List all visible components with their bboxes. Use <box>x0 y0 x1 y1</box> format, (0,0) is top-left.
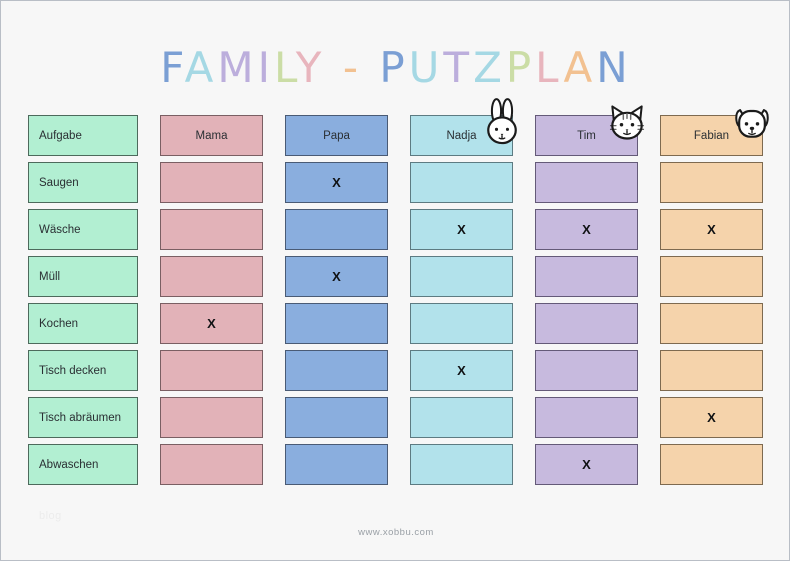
task-label: Tisch decken <box>39 365 106 377</box>
chore-cell-tim[interactable]: X <box>535 209 638 250</box>
title-letter: Y <box>296 43 326 92</box>
chore-cell-papa[interactable] <box>285 444 388 485</box>
chore-cell-papa[interactable] <box>285 303 388 344</box>
task-label-cell[interactable]: Müll <box>28 256 138 297</box>
title-letter: P <box>506 43 535 92</box>
column-header-label: Papa <box>323 130 350 142</box>
task-label-cell[interactable]: Tisch abräumen <box>28 397 138 438</box>
chore-cell-papa[interactable]: X <box>285 256 388 297</box>
chore-chart-table: AufgabeMamaPapaNadjaTimFabianSaugenXWäsc… <box>28 115 764 491</box>
task-label: Müll <box>39 271 60 283</box>
check-mark: X <box>582 222 591 237</box>
chore-cell-nadja[interactable]: X <box>410 350 513 391</box>
task-label-cell[interactable]: Saugen <box>28 162 138 203</box>
cat-sticker <box>605 98 649 146</box>
title-letter: L <box>274 43 296 92</box>
chore-cell-fabian[interactable] <box>660 256 763 297</box>
chore-cell-papa[interactable]: X <box>285 162 388 203</box>
check-mark: X <box>457 222 466 237</box>
column-header-fabian[interactable]: Fabian <box>660 115 763 156</box>
putzplan-page: FAMILY - PUTZPLAN AufgabeMamaPapaNadjaTi… <box>0 0 790 561</box>
task-label: Saugen <box>39 177 79 189</box>
chore-cell-nadja[interactable]: X <box>410 209 513 250</box>
chore-cell-fabian[interactable] <box>660 303 763 344</box>
table-row: MüllX <box>28 256 764 303</box>
chore-cell-nadja[interactable] <box>410 256 513 297</box>
title-letter <box>325 43 342 92</box>
chore-cell-fabian[interactable] <box>660 162 763 203</box>
table-row: Tisch deckenX <box>28 350 764 397</box>
column-header-label: Aufgabe <box>39 130 82 142</box>
chore-cell-fabian[interactable]: X <box>660 397 763 438</box>
chore-cell-tim[interactable]: X <box>535 444 638 485</box>
chore-cell-papa[interactable] <box>285 350 388 391</box>
check-mark: X <box>457 363 466 378</box>
title-letter: N <box>596 43 631 92</box>
check-mark: X <box>332 269 341 284</box>
task-label-cell[interactable]: Wäsche <box>28 209 138 250</box>
title-letter: - <box>343 43 362 92</box>
title-letter: A <box>185 43 218 92</box>
chore-cell-fabian[interactable] <box>660 350 763 391</box>
check-mark: X <box>582 457 591 472</box>
task-label-cell[interactable]: Kochen <box>28 303 138 344</box>
title-letter: M <box>217 43 257 92</box>
chore-cell-papa[interactable] <box>285 397 388 438</box>
column-header-label: Mama <box>196 130 228 142</box>
chore-cell-mama[interactable] <box>160 397 263 438</box>
column-header-nadja[interactable]: Nadja <box>410 115 513 156</box>
column-header-label: Tim <box>577 130 596 142</box>
task-label: Kochen <box>39 318 78 330</box>
title-letter: A <box>564 43 597 92</box>
column-header-label: Fabian <box>694 130 729 142</box>
column-header-task[interactable]: Aufgabe <box>28 115 138 156</box>
title-letter: Z <box>473 43 506 92</box>
dog-sticker <box>730 98 774 146</box>
title-letter: P <box>379 43 408 92</box>
column-header-tim[interactable]: Tim <box>535 115 638 156</box>
chore-cell-fabian[interactable]: X <box>660 209 763 250</box>
chore-cell-mama[interactable] <box>160 162 263 203</box>
page-title: FAMILY - PUTZPLAN <box>1 43 790 93</box>
chore-cell-tim[interactable] <box>535 397 638 438</box>
chore-cell-mama[interactable] <box>160 444 263 485</box>
chore-cell-nadja[interactable] <box>410 162 513 203</box>
check-mark: X <box>207 316 216 331</box>
title-letter: I <box>258 43 274 92</box>
task-label: Tisch abräumen <box>39 412 121 424</box>
task-label-cell[interactable]: Tisch decken <box>28 350 138 391</box>
chore-cell-tim[interactable] <box>535 303 638 344</box>
chore-cell-tim[interactable] <box>535 350 638 391</box>
title-letter: F <box>160 43 184 92</box>
footer-url: www.xobbu.com <box>1 527 790 538</box>
table-header-row: AufgabeMamaPapaNadjaTimFabian <box>28 115 764 162</box>
table-row: AbwaschenX <box>28 444 764 491</box>
chore-cell-tim[interactable] <box>535 162 638 203</box>
title-letter: T <box>443 43 473 92</box>
chore-cell-mama[interactable]: X <box>160 303 263 344</box>
title-letter: U <box>409 43 444 92</box>
table-row: SaugenX <box>28 162 764 209</box>
title-letter: L <box>535 43 563 92</box>
bunny-sticker <box>480 98 524 146</box>
column-header-mama[interactable]: Mama <box>160 115 263 156</box>
task-label-cell[interactable]: Abwaschen <box>28 444 138 485</box>
chore-cell-nadja[interactable] <box>410 397 513 438</box>
chore-cell-mama[interactable] <box>160 256 263 297</box>
check-mark: X <box>332 175 341 190</box>
chore-cell-fabian[interactable] <box>660 444 763 485</box>
chore-cell-mama[interactable] <box>160 209 263 250</box>
chore-cell-nadja[interactable] <box>410 303 513 344</box>
check-mark: X <box>707 222 716 237</box>
blog-watermark: blog <box>39 510 62 522</box>
column-header-label: Nadja <box>446 130 476 142</box>
task-label: Abwaschen <box>39 459 98 471</box>
column-header-papa[interactable]: Papa <box>285 115 388 156</box>
table-row: KochenX <box>28 303 764 350</box>
check-mark: X <box>707 410 716 425</box>
chore-cell-mama[interactable] <box>160 350 263 391</box>
chore-cell-nadja[interactable] <box>410 444 513 485</box>
title-letter <box>362 43 379 92</box>
chore-cell-papa[interactable] <box>285 209 388 250</box>
chore-cell-tim[interactable] <box>535 256 638 297</box>
table-row: Tisch abräumenX <box>28 397 764 444</box>
task-label: Wäsche <box>39 224 81 236</box>
table-row: WäscheXXX <box>28 209 764 256</box>
